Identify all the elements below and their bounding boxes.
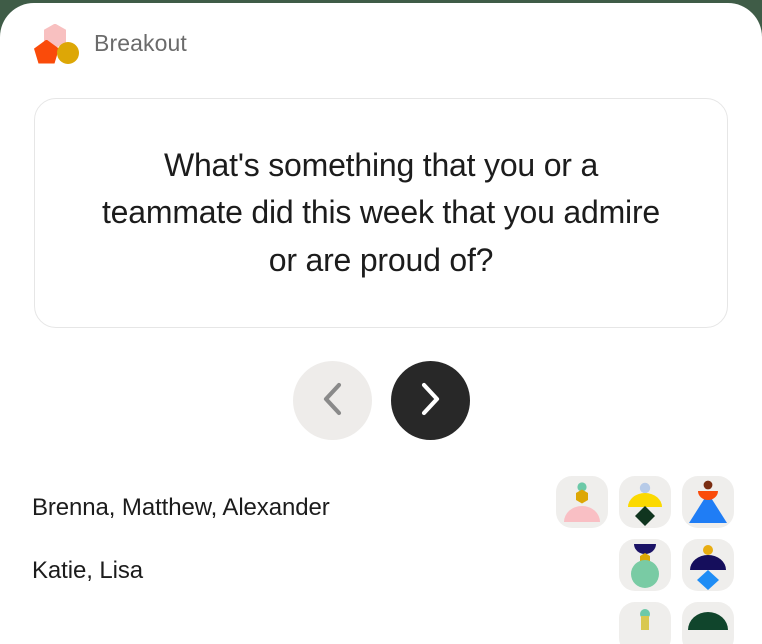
app-surface: Breakout What's something that you or a … xyxy=(0,3,762,644)
avatar-row xyxy=(556,476,734,528)
question-card: What's something that you or a teammate … xyxy=(34,98,728,328)
next-question-button[interactable] xyxy=(391,361,470,440)
brand-title: Breakout xyxy=(94,32,187,55)
groups-section: Brenna, Matthew, Alexander Katie, Lisa xyxy=(0,476,762,602)
chevron-right-icon xyxy=(417,381,443,420)
avatar-grid xyxy=(556,476,734,644)
question-card-wrapper: What's something that you or a teammate … xyxy=(0,98,762,328)
previous-question-button[interactable] xyxy=(293,361,372,440)
group-member-names: Katie, Lisa xyxy=(32,557,143,585)
question-text: What's something that you or a teammate … xyxy=(101,142,661,283)
avatar-brenna[interactable] xyxy=(556,476,608,528)
avatar-row xyxy=(556,539,734,591)
navigation-controls xyxy=(0,361,762,440)
logo-circle-icon xyxy=(57,42,79,64)
avatar-partial-1[interactable] xyxy=(619,602,671,644)
chevron-left-icon xyxy=(319,381,345,420)
avatar-row xyxy=(556,602,734,644)
group-member-names: Brenna, Matthew, Alexander xyxy=(32,494,330,522)
breakout-logo xyxy=(30,24,78,64)
avatar-alexander[interactable] xyxy=(682,476,734,528)
app-header: Breakout xyxy=(0,3,762,55)
avatar-matthew[interactable] xyxy=(619,476,671,528)
avatar-katie[interactable] xyxy=(619,539,671,591)
avatar-lisa[interactable] xyxy=(682,539,734,591)
avatar-partial-2[interactable] xyxy=(682,602,734,644)
